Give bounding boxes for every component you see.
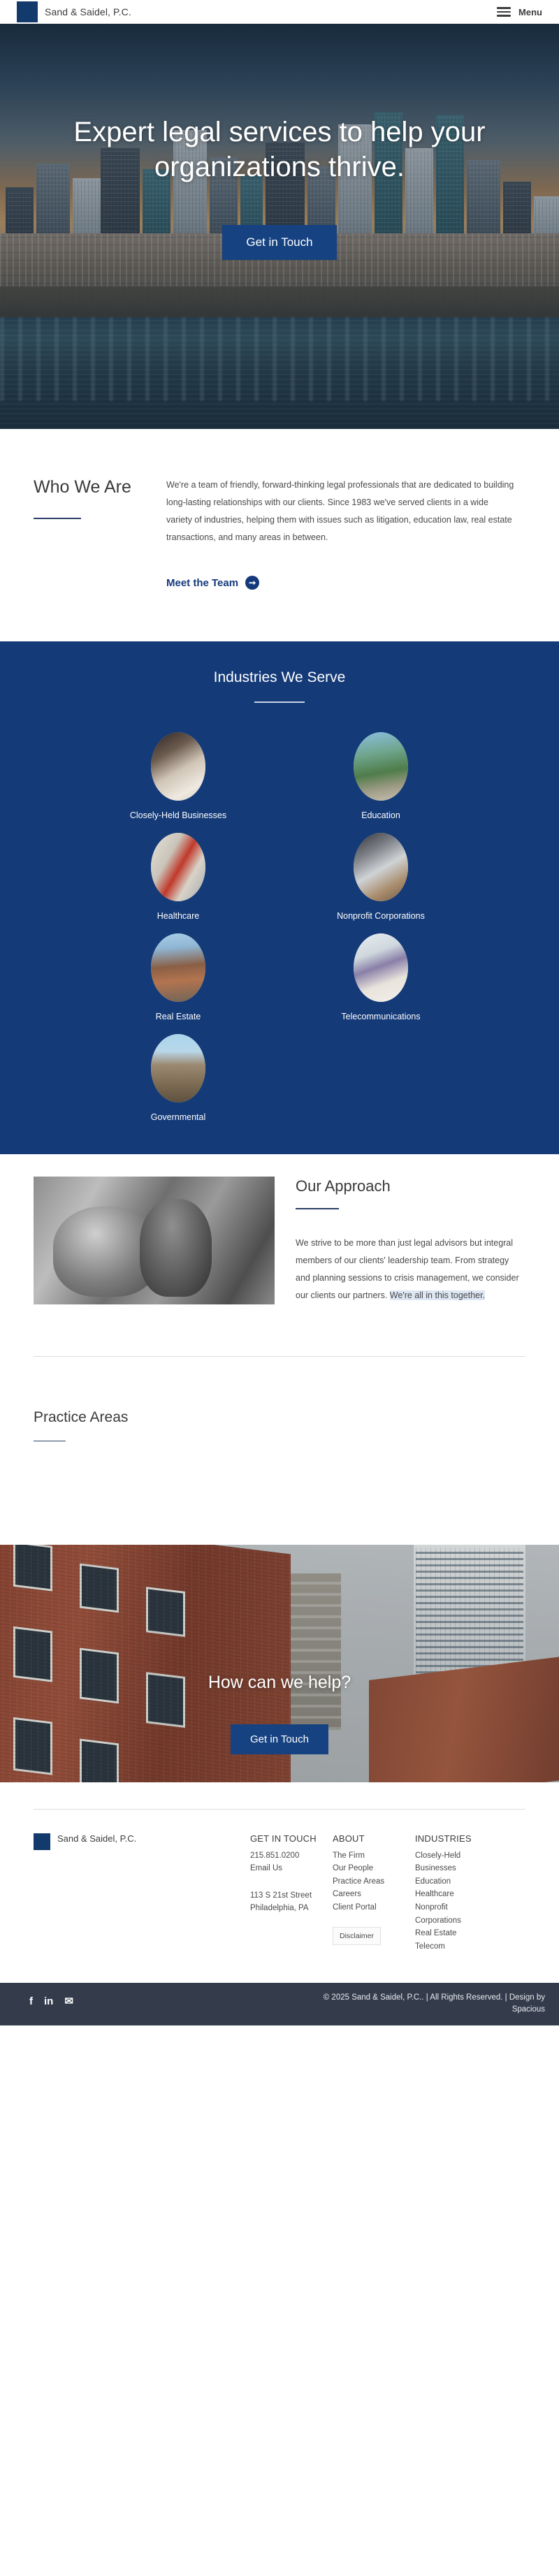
who-we-are-heading: Who We Are <box>34 476 152 498</box>
industry-card-closely-held-businesses[interactable]: Closely-Held Businesses <box>77 732 279 829</box>
industry-card-real-estate[interactable]: Real Estate <box>77 933 279 1030</box>
copyright-text: © 2025 Sand & Saidel, P.C.. | All Rights… <box>314 1992 545 2017</box>
footer-column-industries: INDUSTRIES Closely-Held Businesses Educa… <box>415 1833 491 1953</box>
practice-areas-content-area <box>34 1441 525 1545</box>
industry-label: Education <box>279 810 482 820</box>
footer-link-real-estate[interactable]: Real Estate <box>415 1927 491 1940</box>
footer-column-about: ABOUT The Firm Our People Practice Areas… <box>333 1833 408 1953</box>
practice-areas-heading: Practice Areas <box>34 1409 525 1427</box>
our-approach-content: Our Approach We strive to be more than j… <box>296 1177 525 1304</box>
footer-brand[interactable]: Sand & Saidel, P.C. <box>34 1833 243 1953</box>
email-icon[interactable]: ✉ <box>64 1996 73 2007</box>
practice-areas-section: Practice Areas <box>0 1357 559 1545</box>
site-footer: Sand & Saidel, P.C. GET IN TOUCH 215.851… <box>0 1809 559 1982</box>
cta-banner: How can we help? Get in Touch <box>0 1545 559 1782</box>
our-approach-heading: Our Approach <box>296 1177 525 1196</box>
our-approach-image <box>34 1177 275 1304</box>
footer-address-line-1: 113 S 21st Street <box>250 1889 326 1902</box>
footer-link-careers[interactable]: Careers <box>333 1888 408 1901</box>
industry-label: Closely-Held Businesses <box>77 810 279 820</box>
industry-image <box>151 732 205 801</box>
footer-link-education[interactable]: Education <box>415 1875 491 1889</box>
who-we-are-section: Who We Are We're a team of friendly, for… <box>0 429 559 611</box>
meet-the-team-link[interactable]: Meet the Team ➞ <box>166 576 259 590</box>
site-header: Sand & Saidel, P.C. Menu <box>0 0 559 24</box>
industry-card-education[interactable]: Education <box>279 732 482 829</box>
facebook-icon[interactable]: f <box>29 1996 33 2007</box>
footer-phone-link[interactable]: 215.851.0200 <box>250 1849 326 1863</box>
our-approach-section: Our Approach We strive to be more than j… <box>0 1154 559 1304</box>
linkedin-icon[interactable]: in <box>44 1996 53 2007</box>
meet-the-team-label: Meet the Team <box>166 577 238 589</box>
industry-image <box>151 933 205 1002</box>
footer-link-the-firm[interactable]: The Firm <box>333 1849 408 1863</box>
footer-column-heading: INDUSTRIES <box>415 1833 491 1844</box>
arrow-right-circle-icon: ➞ <box>245 576 259 590</box>
our-approach-paragraph: We strive to be more than just legal adv… <box>296 1235 525 1304</box>
industry-image <box>354 833 408 901</box>
footer-link-practice-areas[interactable]: Practice Areas <box>333 1875 408 1889</box>
industry-card-telecommunications[interactable]: Telecommunications <box>279 933 482 1030</box>
footer-column-heading: GET IN TOUCH <box>250 1833 326 1844</box>
footer-address-line-2: Philadelphia, PA <box>250 1902 326 1915</box>
hero-get-in-touch-button[interactable]: Get in Touch <box>222 225 336 260</box>
hero-title: Expert legal services to help your organ… <box>63 115 496 184</box>
hero-banner: Expert legal services to help your organ… <box>0 24 559 429</box>
footer-link-our-people[interactable]: Our People <box>333 1862 408 1875</box>
cta-get-in-touch-button[interactable]: Get in Touch <box>231 1724 328 1754</box>
menu-toggle-button[interactable]: Menu <box>497 7 542 17</box>
industry-label: Healthcare <box>77 911 279 921</box>
cta-title: How can we help? <box>0 1673 559 1693</box>
footer-link-closely-held-businesses[interactable]: Closely-Held Businesses <box>415 1849 491 1875</box>
brand-name: Sand & Saidel, P.C. <box>45 6 131 17</box>
footer-column-heading: ABOUT <box>333 1833 408 1844</box>
industry-image <box>151 833 205 901</box>
footer-bottom-bar: f in ✉ © 2025 Sand & Saidel, P.C.. | All… <box>0 1983 559 2026</box>
footer-link-client-portal[interactable]: Client Portal <box>333 1901 408 1914</box>
footer-link-nonprofit-corporations[interactable]: Nonprofit Corporations <box>415 1901 491 1927</box>
who-we-are-paragraph: We're a team of friendly, forward-thinki… <box>166 476 516 546</box>
industry-label: Real Estate <box>77 1012 279 1021</box>
industry-image <box>151 1034 205 1103</box>
hamburger-icon <box>497 7 511 17</box>
industries-heading-rule <box>254 701 305 703</box>
who-we-are-heading-block: Who We Are <box>34 476 152 590</box>
heading-rule <box>34 518 81 519</box>
footer-email-link[interactable]: Email Us <box>250 1862 326 1875</box>
industries-section: Industries We Serve Closely-Held Busines… <box>0 641 559 1154</box>
industry-label: Nonprofit Corporations <box>279 911 482 921</box>
industry-label: Telecommunications <box>279 1012 482 1021</box>
industry-label: Governmental <box>77 1112 279 1122</box>
footer-link-healthcare[interactable]: Healthcare <box>415 1888 491 1901</box>
social-links: f in ✉ <box>14 1992 73 2007</box>
heading-rule <box>296 1208 339 1209</box>
industry-image <box>354 933 408 1002</box>
menu-label: Menu <box>518 7 542 17</box>
brand-logo-link[interactable]: Sand & Saidel, P.C. <box>17 1 131 22</box>
square-logo-mark-icon <box>34 1833 50 1850</box>
footer-column-get-in-touch: GET IN TOUCH 215.851.0200 Email Us 113 S… <box>250 1833 326 1953</box>
footer-link-telecom[interactable]: Telecom <box>415 1940 491 1953</box>
who-we-are-content: We're a team of friendly, forward-thinki… <box>166 476 516 590</box>
footer-brand-name: Sand & Saidel, P.C. <box>57 1833 136 1844</box>
our-approach-paragraph-highlight: We're all in this together. <box>390 1290 485 1300</box>
industries-grid: Closely-Held Businesses Education Health… <box>0 732 559 1130</box>
industries-heading: Industries We Serve <box>0 669 559 686</box>
disclaimer-button[interactable]: Disclaimer <box>333 1927 381 1945</box>
industry-card-healthcare[interactable]: Healthcare <box>77 833 279 929</box>
industry-card-nonprofit-corporations[interactable]: Nonprofit Corporations <box>279 833 482 929</box>
industry-image <box>354 732 408 801</box>
square-logo-mark-icon <box>17 1 38 22</box>
industry-card-governmental[interactable]: Governmental <box>77 1034 279 1130</box>
